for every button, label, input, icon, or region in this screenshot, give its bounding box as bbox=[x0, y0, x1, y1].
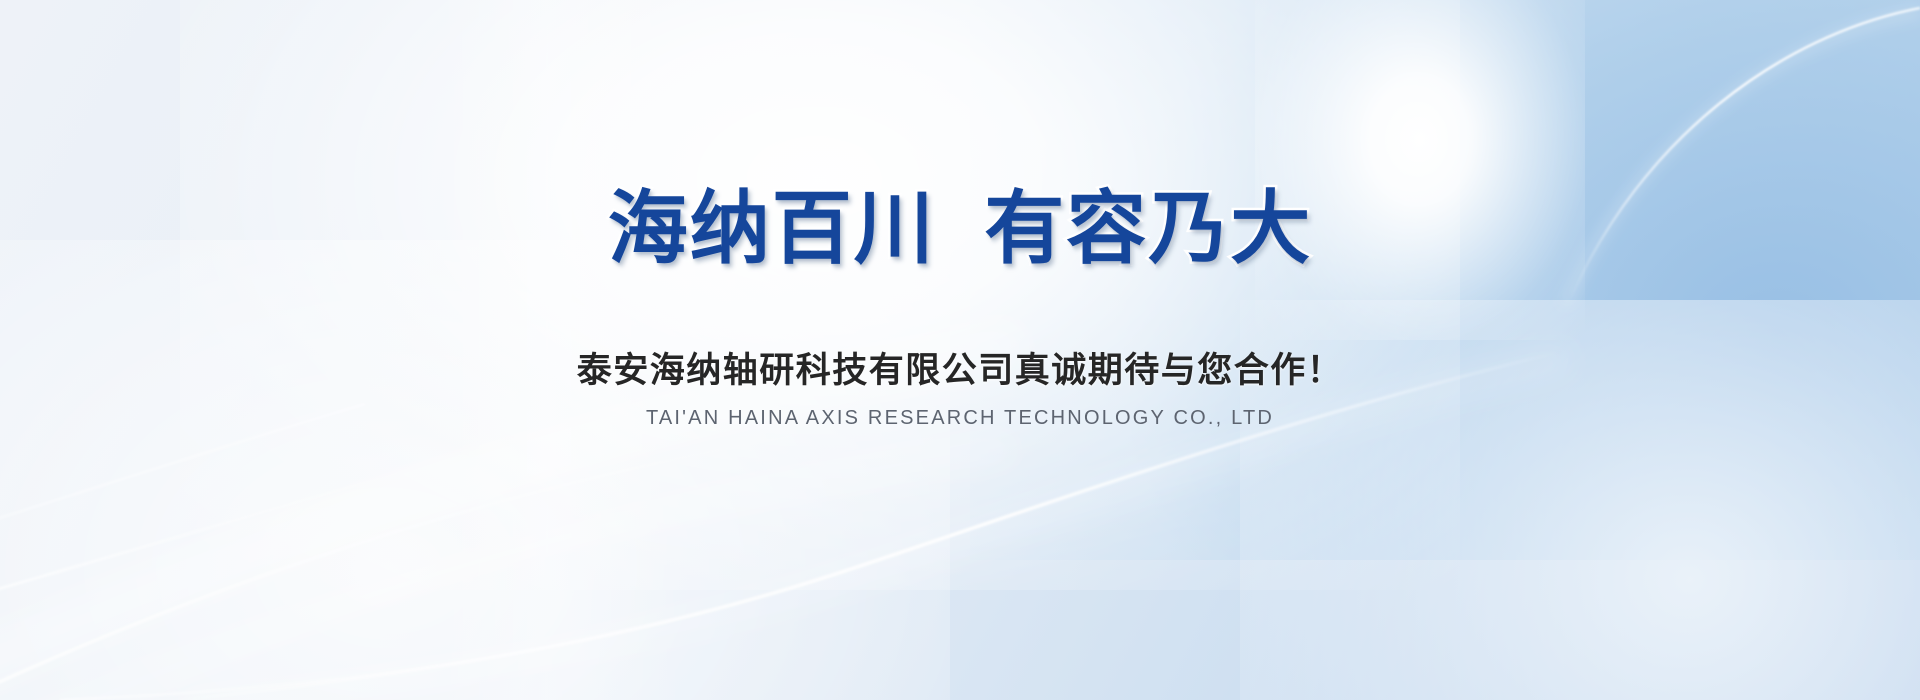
hero-banner: 海纳百川 有容乃大 泰安海纳轴研科技有限公司真诚期待与您合作！ TAI'AN H… bbox=[0, 0, 1920, 700]
banner-headline: 海纳百川 有容乃大 bbox=[608, 188, 1312, 270]
banner-subtitle-english: TAI'AN HAINA AXIS RESEARCH TECHNOLOGY CO… bbox=[646, 407, 1274, 430]
banner-subtitle-group: 泰安海纳轴研科技有限公司真诚期待与您合作！ TAI'AN HAINA AXIS … bbox=[577, 342, 1344, 430]
banner-subtitle-chinese: 泰安海纳轴研科技有限公司真诚期待与您合作！ bbox=[577, 342, 1344, 393]
banner-content: 海纳百川 有容乃大 泰安海纳轴研科技有限公司真诚期待与您合作！ TAI'AN H… bbox=[0, 0, 1920, 700]
